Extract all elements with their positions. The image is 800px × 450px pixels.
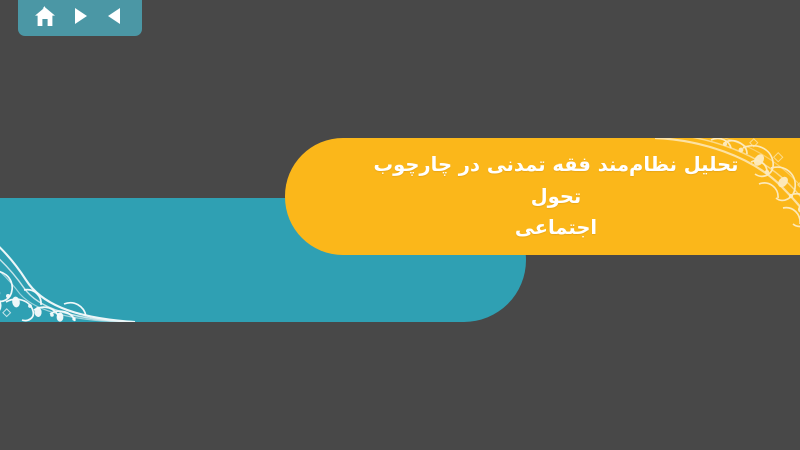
slide-title-line-1: تحلیل نظام‌مند فقه تمدنی در چارچوب تحول: [374, 153, 739, 208]
home-button[interactable]: [31, 3, 59, 29]
triangle-left-icon: [105, 6, 125, 26]
navigation-bar: [18, 0, 142, 36]
home-icon: [34, 6, 56, 27]
slide-title: تحلیل نظام‌مند فقه تمدنی در چارچوب تحول …: [366, 149, 746, 244]
slide-canvas: تحلیل نظام‌مند فقه تمدنی در چارچوب تحول …: [0, 0, 800, 450]
slide-title-line-2: اجتماعی: [515, 216, 597, 239]
previous-slide-button[interactable]: [101, 3, 129, 29]
triangle-right-icon: [70, 6, 90, 26]
teal-arabesque-ornament-icon: [0, 198, 140, 322]
next-slide-button[interactable]: [66, 3, 94, 29]
orange-title-band: تحلیل نظام‌مند فقه تمدنی در چارچوب تحول …: [285, 138, 800, 255]
